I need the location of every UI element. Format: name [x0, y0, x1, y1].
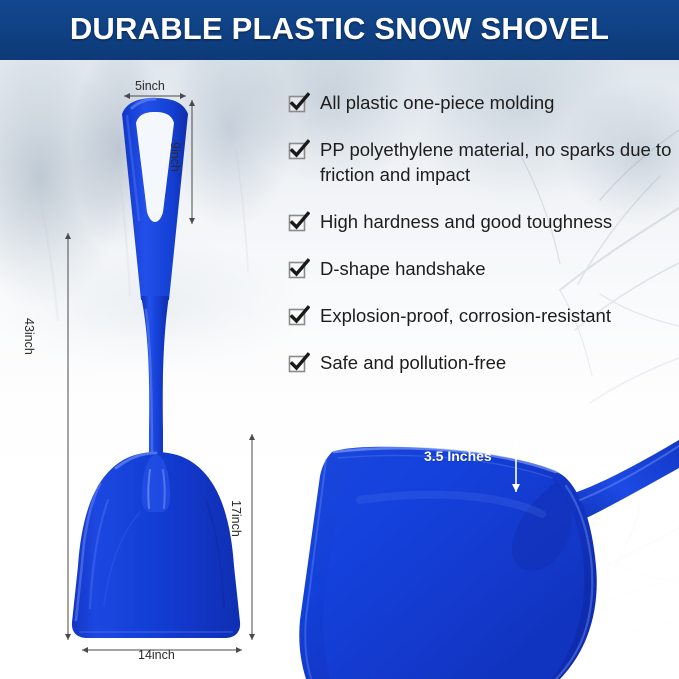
feature-text: All plastic one-piece molding	[320, 90, 554, 115]
checkbox-checked-icon	[288, 305, 310, 327]
feature-item: Safe and pollution-free	[288, 350, 674, 375]
feature-text: High hardness and good toughness	[320, 209, 612, 234]
feature-item: High hardness and good toughness	[288, 209, 674, 234]
feature-text: PP polyethylene material, no sparks due …	[320, 137, 674, 187]
checkbox-checked-icon	[288, 258, 310, 280]
feature-text: Safe and pollution-free	[320, 350, 506, 375]
dimension-label-blade-height: 17inch	[229, 500, 243, 537]
feature-item: Explosion-proof, corrosion-resistant	[288, 303, 674, 328]
checkbox-checked-icon	[288, 211, 310, 233]
feature-item: All plastic one-piece molding	[288, 90, 674, 115]
checkbox-checked-icon	[288, 92, 310, 114]
dimension-label-blade-depth: 3.5 Inches	[424, 448, 492, 464]
feature-list: All plastic one-piece molding PP polyeth…	[288, 90, 674, 397]
dimension-label-handle-width: 5inch	[135, 79, 165, 93]
feature-item: PP polyethylene material, no sparks due …	[288, 137, 674, 187]
product-infographic: 5inch 9inch 43inch 17inch 14inch 3.5 Inc…	[0, 0, 679, 679]
page-title: DURABLE PLASTIC SNOW SHOVEL	[0, 0, 679, 60]
dimension-label-blade-width: 14inch	[138, 648, 175, 662]
checkbox-checked-icon	[288, 352, 310, 374]
feature-text: Explosion-proof, corrosion-resistant	[320, 303, 611, 328]
feature-item: D-shape handshake	[288, 256, 674, 281]
dimension-label-handle-height: 9inch	[168, 142, 182, 172]
header-bar: DURABLE PLASTIC SNOW SHOVEL	[0, 0, 679, 60]
checkbox-checked-icon	[288, 139, 310, 161]
shovel-front-view	[72, 98, 240, 638]
feature-text: D-shape handshake	[320, 256, 486, 281]
shovel-closeup-view	[299, 440, 679, 679]
dimension-label-total-length: 43inch	[22, 318, 36, 355]
